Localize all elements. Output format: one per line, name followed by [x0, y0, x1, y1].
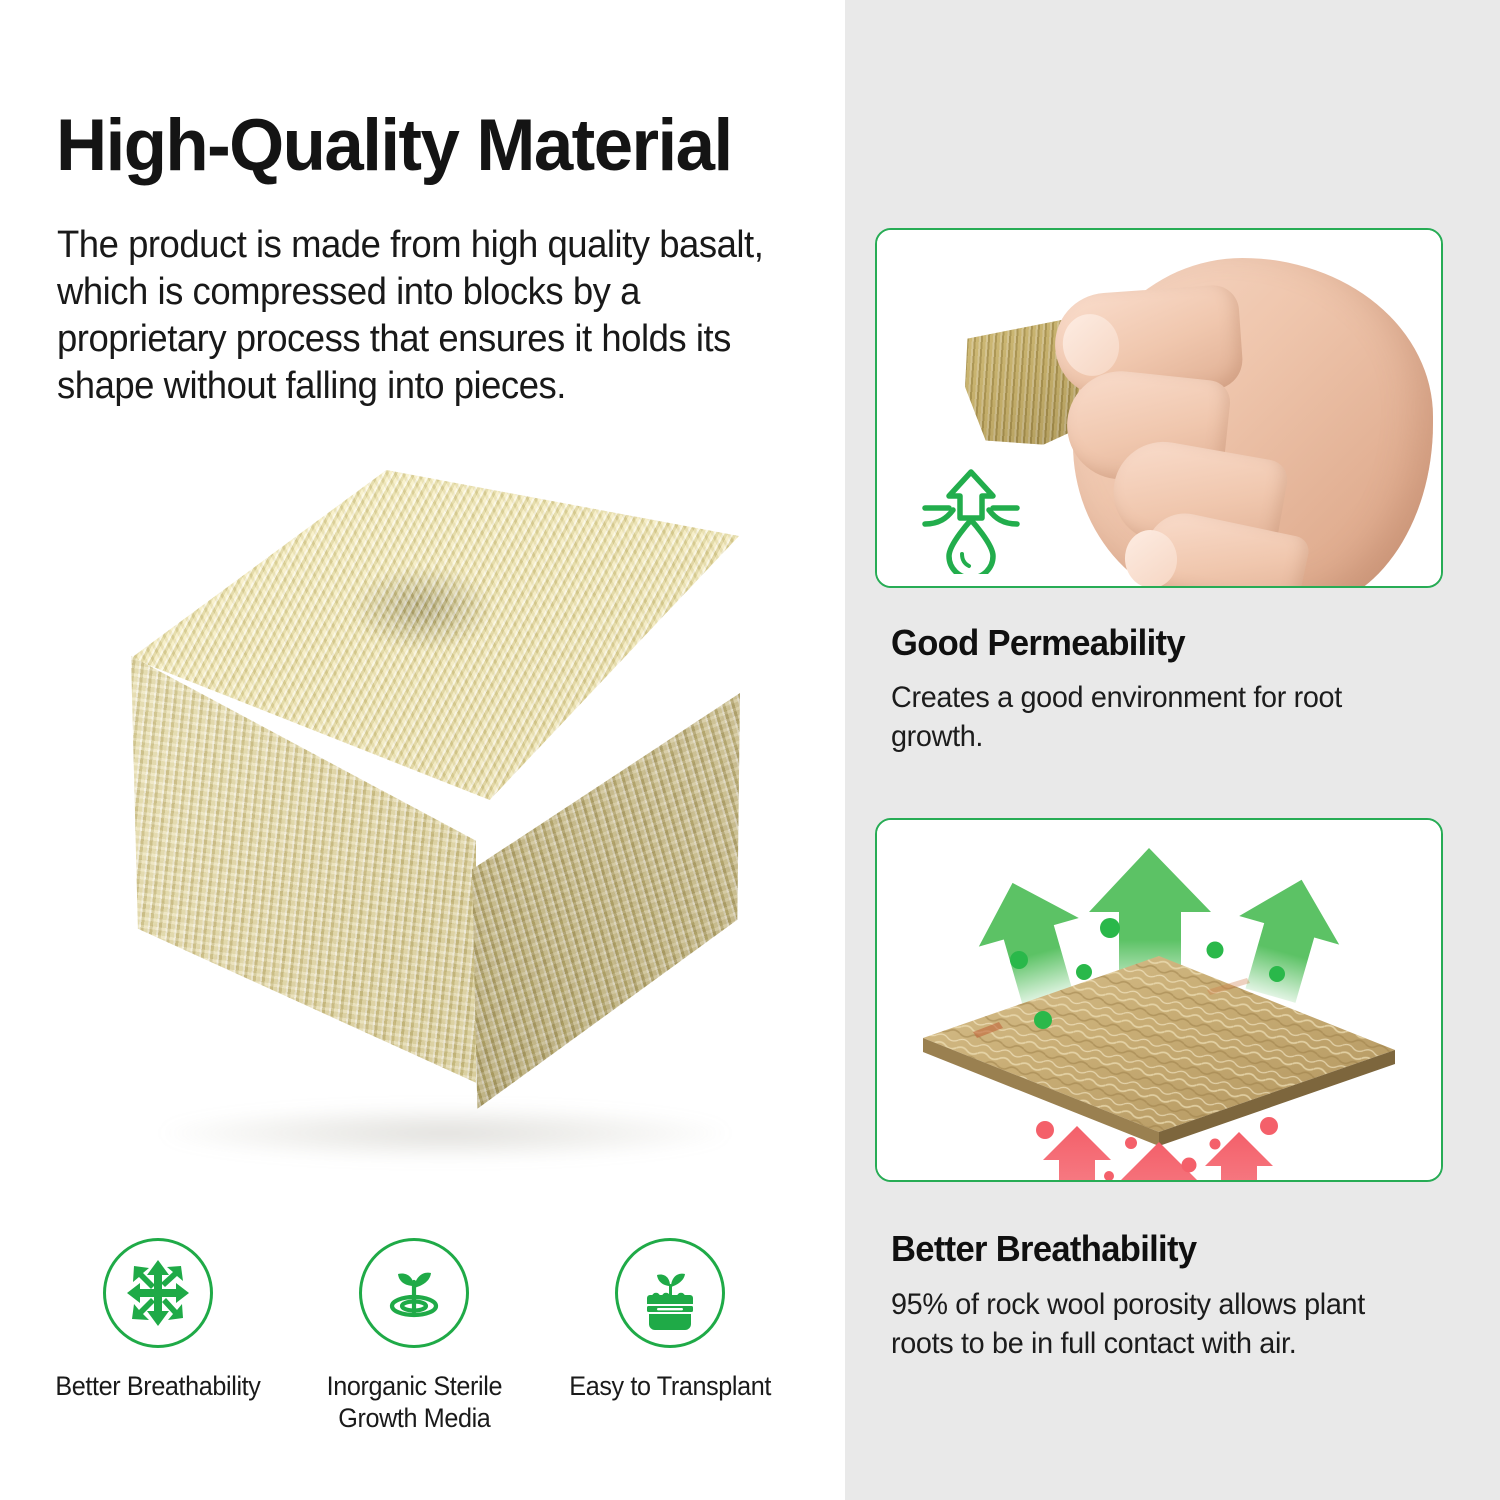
left-panel: High-Quality Material The product is mad… — [0, 0, 845, 1500]
planter-box-seedling-icon — [615, 1238, 725, 1348]
heading-permeability: Good Permeability — [891, 622, 1185, 664]
cube-drop-shadow — [165, 1106, 725, 1160]
rock-wool-slab — [923, 956, 1395, 1146]
heading-breathability: Better Breathability — [891, 1228, 1196, 1270]
feature-icon-row: Better Breathability Inorganic Steri — [30, 1238, 820, 1468]
airflow-diagram — [877, 820, 1441, 1180]
water-permeability-arrow-droplet-icon — [919, 466, 1023, 579]
body-breathability: 95% of rock wool porosity allows plant r… — [891, 1285, 1409, 1363]
feature-item-better-breathability[interactable]: Better Breathability — [30, 1238, 286, 1468]
feature-label: Easy to Transplant — [569, 1370, 771, 1402]
card-permeability — [875, 228, 1443, 588]
card-breathability — [875, 818, 1443, 1182]
feature-label: Better Breathability — [55, 1370, 260, 1402]
right-panel: Good Permeability Creates a good environ… — [845, 0, 1500, 1500]
feature-item-easy-to-transplant[interactable]: Easy to Transplant — [542, 1238, 798, 1468]
seedling-sprout-icon — [359, 1238, 469, 1348]
page-title: High-Quality Material — [56, 104, 732, 187]
product-infographic-page: High-Quality Material The product is mad… — [0, 0, 1500, 1500]
rock-wool-cube-illustration — [125, 470, 755, 1170]
hand-holding-cube-image — [877, 230, 1441, 586]
page-description: The product is made from high quality ba… — [57, 222, 796, 410]
hero-product-image — [105, 445, 785, 1200]
feature-label: Inorganic Sterile Growth Media — [326, 1370, 501, 1434]
body-permeability: Creates a good environment for root grow… — [891, 678, 1409, 756]
feature-item-inorganic-sterile-growth-media[interactable]: Inorganic Sterile Growth Media — [286, 1238, 542, 1468]
multi-direction-arrows-icon — [103, 1238, 213, 1348]
